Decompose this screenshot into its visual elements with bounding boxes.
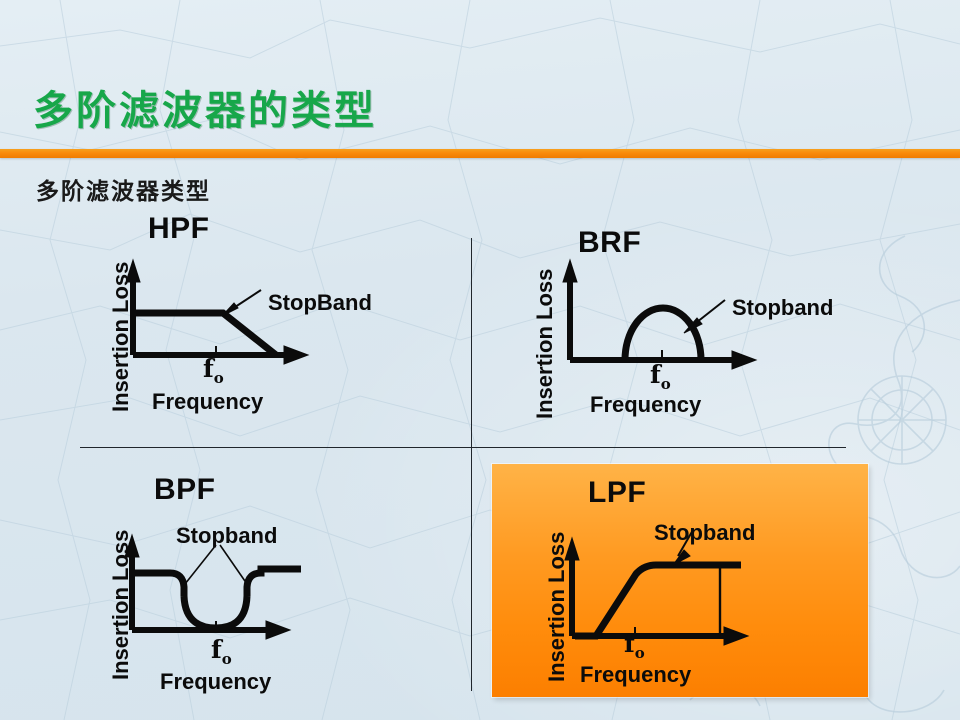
fo-letter-hpf: f — [203, 354, 214, 383]
fo-marker-lpf: fo — [624, 629, 645, 662]
slide-canvas: 多阶滤波器的类型 多阶滤波器类型 HPF Insertion Loss Freq… — [0, 0, 960, 720]
panel-title-lpf: LPF — [588, 476, 646, 510]
panel-title-brf: BRF — [578, 226, 641, 260]
fo-subscript-hpf: o — [214, 369, 224, 387]
fo-subscript-brf: o — [661, 375, 671, 393]
fo-letter-lpf: f — [624, 629, 635, 658]
panel-title-bpf: BPF — [154, 473, 216, 507]
y-axis-label-brf: Insertion Loss — [532, 269, 558, 419]
fo-subscript-lpf: o — [635, 644, 645, 662]
x-axis-label-brf: Frequency — [590, 392, 701, 418]
y-axis-label-bpf: Insertion Loss — [108, 530, 134, 680]
x-axis-label-lpf: Frequency — [580, 662, 691, 688]
panel-title-hpf: HPF — [148, 212, 210, 246]
annotation-stopband-lpf: Stopband — [654, 520, 755, 546]
annotation-stopband-hpf: StopBand — [268, 290, 372, 316]
chart-hpf — [86, 212, 466, 437]
chart-brf — [510, 212, 900, 437]
page-title: 多阶滤波器的类型 — [33, 78, 377, 136]
panel-brf: BRF Insertion Loss Frequency fo Stopband — [510, 212, 900, 437]
quadrant-divider-horizontal — [80, 447, 846, 448]
x-axis-label-hpf: Frequency — [152, 389, 263, 415]
fo-marker-bpf: fo — [211, 635, 232, 668]
y-axis-label-lpf: Insertion Loss — [544, 532, 570, 682]
x-axis-label-bpf: Frequency — [160, 669, 271, 695]
chart-bpf — [86, 465, 466, 705]
fo-marker-hpf: fo — [203, 354, 224, 387]
panel-lpf: LPF Insertion Loss Frequency fo Stopband — [492, 464, 868, 697]
subtitle-text: 多阶滤波器类型 — [36, 172, 211, 206]
fo-letter-brf: f — [650, 360, 661, 389]
fo-subscript-bpf: o — [222, 650, 232, 668]
fo-letter-bpf: f — [211, 635, 222, 664]
title-divider-rule — [0, 149, 960, 158]
annotation-stopband-bpf: Stopband — [176, 523, 277, 549]
panel-bpf: BPF Insertion Loss Frequency fo Stopband — [86, 465, 466, 705]
annotation-stopband-brf: Stopband — [732, 295, 833, 321]
panel-hpf: HPF Insertion Loss Frequency fo StopBand — [86, 212, 466, 437]
quadrant-divider-vertical — [471, 238, 472, 691]
y-axis-label-hpf: Insertion Loss — [108, 262, 134, 412]
fo-marker-brf: fo — [650, 360, 671, 393]
